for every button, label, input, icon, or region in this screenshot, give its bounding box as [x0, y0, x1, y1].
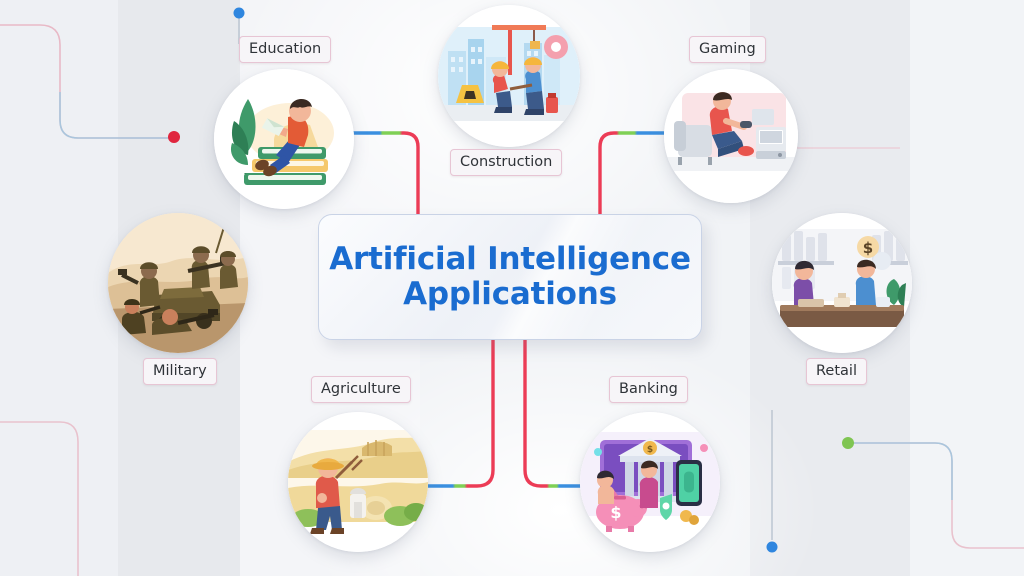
gaming-console-player-icon: [664, 69, 798, 203]
retail-store-checkout-icon: $: [772, 213, 912, 353]
center-card: Artificial Intelligence Applications: [318, 214, 702, 340]
title-line-1: Artificial Intelligence: [329, 241, 691, 277]
svg-text:$: $: [610, 503, 621, 522]
banking-piggy-bank-icon: $ $: [580, 412, 720, 552]
title-line-2: Applications: [403, 276, 617, 312]
page-title: Artificial Intelligence Applications: [329, 242, 691, 313]
agriculture-illustration: [288, 412, 428, 552]
label-education[interactable]: Education: [239, 36, 331, 63]
military-illustration: [108, 213, 248, 353]
svg-text:$: $: [647, 445, 653, 455]
construction-workers-icon: [438, 5, 580, 147]
label-gaming[interactable]: Gaming: [689, 36, 766, 63]
gaming-illustration: [664, 69, 798, 203]
label-retail[interactable]: Retail: [806, 358, 867, 385]
label-military[interactable]: Military: [143, 358, 217, 385]
construction-illustration: [438, 5, 580, 147]
label-construction[interactable]: Construction: [450, 149, 562, 176]
svg-text:$: $: [863, 239, 873, 257]
label-banking[interactable]: Banking: [609, 376, 688, 403]
retail-illustration: $: [772, 213, 912, 353]
infographic-canvas: Education: [0, 0, 1024, 576]
military-soldiers-desert-icon: [108, 213, 248, 353]
label-agriculture[interactable]: Agriculture: [311, 376, 411, 403]
agriculture-farmer-field-icon: [288, 412, 428, 552]
education-reading-books-icon: [214, 69, 354, 209]
education-illustration: [214, 69, 354, 209]
banking-illustration: $ $: [580, 412, 720, 552]
